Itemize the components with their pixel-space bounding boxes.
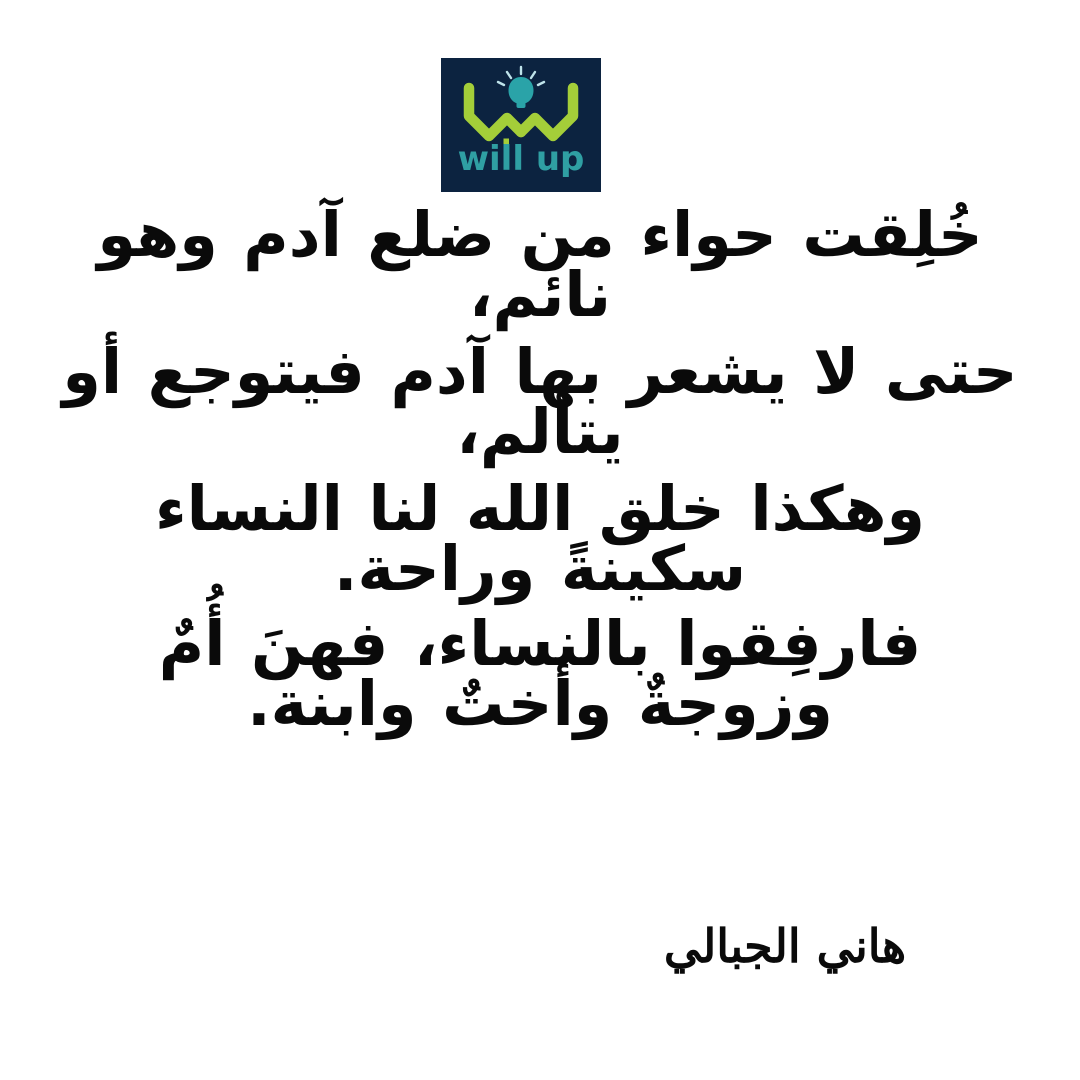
quote-line-1: خُلِقت حواء من ضلع آدم وهو نائم، — [0, 205, 1080, 324]
attribution: هاني الجبالي — [0, 918, 1080, 974]
quote-card: will up خُلِقت حواء من ضلع آدم وهو نائم،… — [0, 0, 1080, 1080]
quote-line-2: حتى لا يشعر بها آدم فيتوجع أو يتألم، — [0, 342, 1080, 461]
lightbulb-base-icon — [517, 102, 526, 108]
author-name: هاني الجبالي — [525, 918, 1045, 974]
logo-wordmark-text: will up — [458, 139, 585, 179]
quote-text-block: خُلِقت حواء من ضلع آدم وهو نائم، حتى لا … — [0, 205, 1080, 733]
lightbulb-icon — [509, 77, 534, 104]
willup-w-lightbulb-logo: will up — [441, 58, 601, 192]
logo-wordmark: will up — [458, 139, 585, 180]
brand-logo: will up — [441, 58, 601, 192]
quote-line-3: وهكذا خلق الله لنا النساء سكينةً وراحة. — [0, 479, 1080, 598]
quote-line-4: فارفِقوا بالنساء، فهنَ أُمٌ وزوجةٌ وأختٌ… — [0, 614, 1080, 733]
logo-i-dot-icon — [504, 139, 510, 145]
